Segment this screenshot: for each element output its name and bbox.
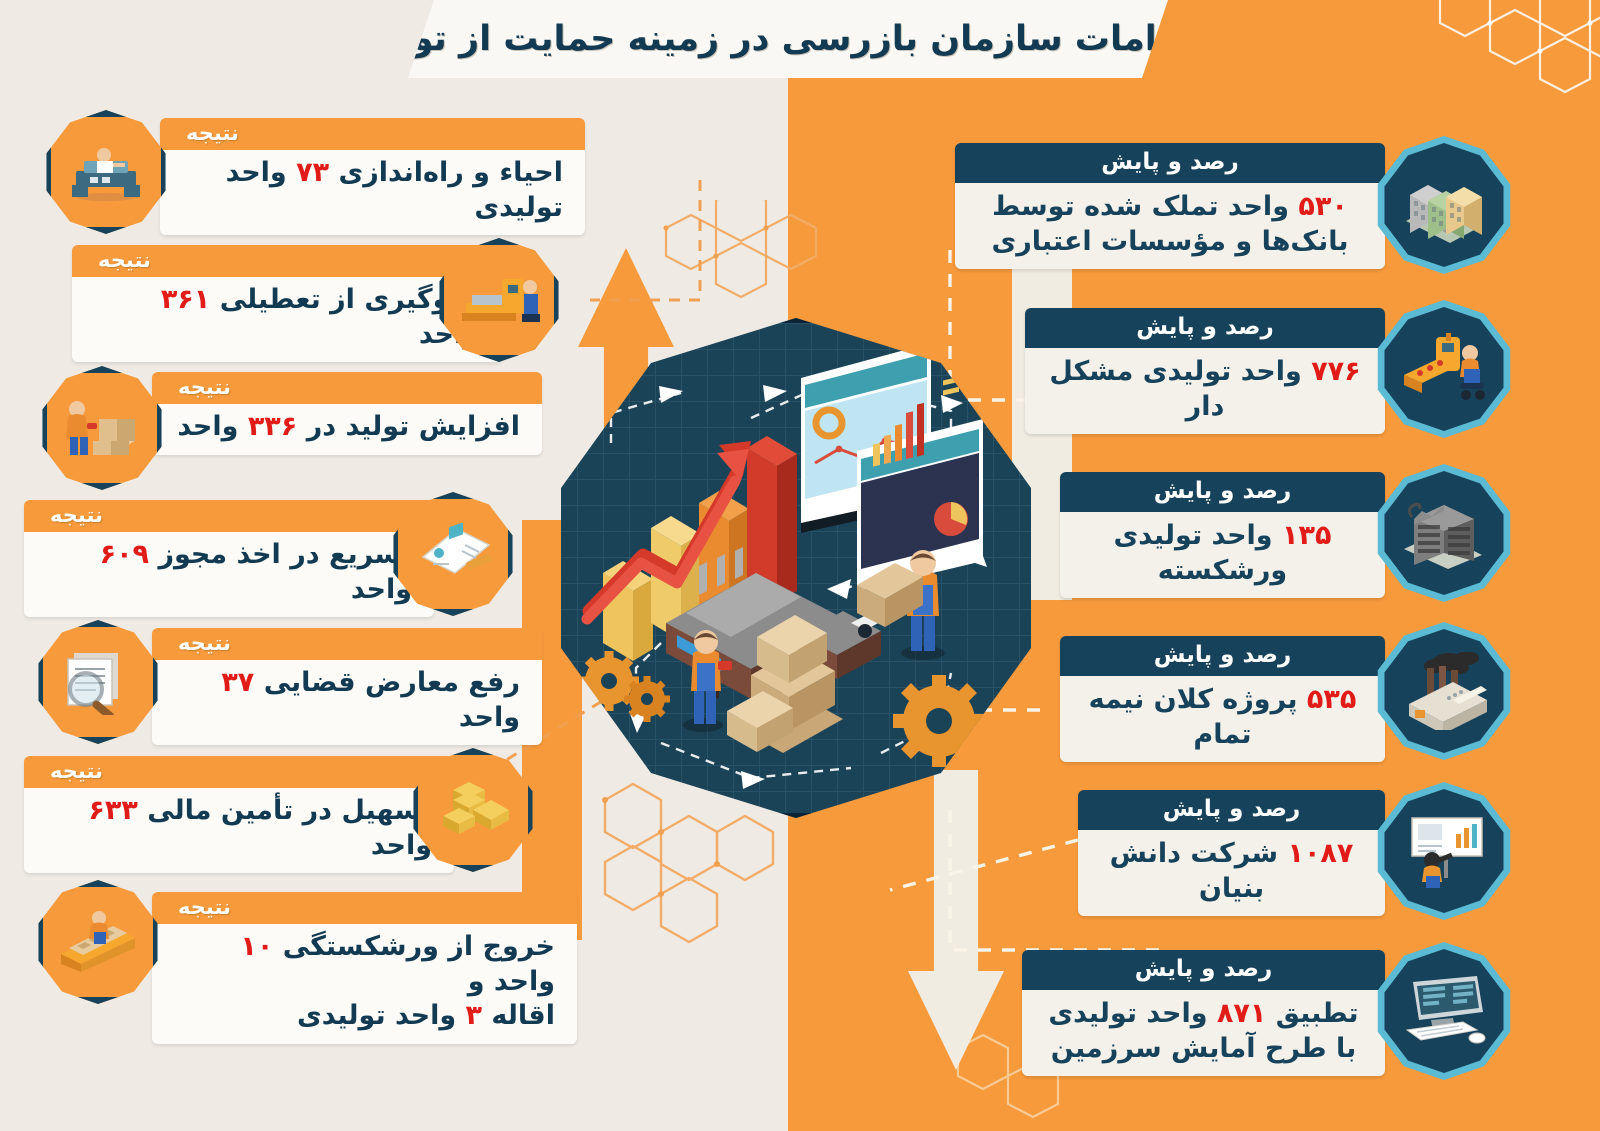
right-card-header: رصد و پایش: [1060, 636, 1385, 676]
left-card-3[interactable]: نتیجه افزایش تولید در ۳۳۶ واحد: [152, 372, 542, 455]
text-after: واحد تولیدی ورشکسته: [1114, 520, 1288, 586]
left-icon-badge-6: [411, 748, 535, 872]
left-card-header: نتیجه: [24, 500, 434, 532]
metric-number: ۶۳۳: [88, 795, 137, 826]
metric-number: ۱۰۸۷: [1287, 838, 1353, 869]
text-after: شرکت دانش بنیان: [1110, 838, 1278, 904]
left-icon-badge-4: [391, 492, 515, 616]
left-card-5[interactable]: نتیجه رفع معارض قضایی ۳۷ واحد: [152, 628, 542, 745]
metric-number: ۳۶۱: [161, 284, 210, 315]
text-before: خروج از ورشکستگی: [283, 931, 555, 962]
metric-number-2: ۳: [466, 1000, 482, 1031]
left-card-header: نتیجه: [152, 628, 542, 660]
gold-coins-icon: [433, 778, 513, 842]
smoking-factory-icon: [1397, 652, 1491, 730]
industrial-robot-operator-icon: [1398, 333, 1490, 405]
right-icon-badge-2: [1375, 300, 1513, 438]
right-card-body: تطبیق ۸۷۱ واحد تولیدی با طرح آمایش سرزمی…: [1022, 990, 1385, 1076]
right-card-header: رصد و پایش: [955, 143, 1385, 183]
text-before: احیاء و راه‌اندازی: [338, 157, 563, 188]
metric-number: ۸۷۱: [1217, 998, 1266, 1029]
left-card-body: خروج از ورشکستگی ۱۰ واحد و اقاله ۳ واحد …: [152, 924, 577, 1044]
metric-number: ۳۷: [221, 667, 254, 698]
right-card-2[interactable]: رصد و پایش ۷۷۶ واحد تولیدی مشکل دار: [1025, 308, 1385, 434]
text-before: تسریع در اخذ مجوز: [158, 539, 412, 570]
metric-number: ۷۳: [296, 157, 329, 188]
left-card-header: نتیجه: [152, 372, 542, 404]
left-card-body: تسهیل در تأمین مالی ۶۳۳ واحد: [24, 788, 454, 873]
page-title: اقدامات سازمان بازرسی در زمینه حمایت از …: [364, 19, 1212, 59]
right-card-1[interactable]: رصد و پایش ۵۳۰ واحد تملک شده توسط بانک‌ه…: [955, 143, 1385, 269]
right-card-6[interactable]: رصد و پایش تطبیق ۸۷۱ واحد تولیدی با طرح …: [1022, 950, 1385, 1076]
right-icon-badge-1: [1375, 136, 1513, 274]
left-icon-badge-3: [40, 366, 164, 490]
right-card-3[interactable]: رصد و پایش ۱۳۵ واحد تولیدی ورشکسته: [1060, 472, 1385, 598]
right-card-header: رصد و پایش: [1078, 790, 1385, 830]
left-icon-badge-2: [437, 238, 561, 362]
presentation-worker-icon: [1398, 812, 1490, 890]
cnc-machine-operator-icon: [456, 269, 542, 331]
right-card-header: رصد و پایش: [1022, 950, 1385, 990]
right-card-body: ۵۳۵ پروژه کلان نیمه تمام: [1060, 676, 1385, 762]
metric-number: ۷۷۶: [1311, 356, 1360, 387]
text-after: واحد: [177, 411, 238, 442]
right-icon-badge-4: [1375, 622, 1513, 760]
text-before: افزایش تولید در: [307, 411, 520, 442]
right-card-body: ۱۰۸۷ شرکت دانش بنیان: [1078, 830, 1385, 916]
left-card-body: احیاء و راه‌اندازی ۷۳ واحد تولیدی: [160, 150, 585, 235]
right-icon-badge-6: [1375, 942, 1513, 1080]
infographic-canvas: اقدامات سازمان بازرسی در زمینه حمایت از …: [0, 0, 1600, 1131]
conveyor-belt-worker-icon: [55, 910, 141, 974]
left-card-7[interactable]: نتیجه خروج از ورشکستگی ۱۰ واحد و اقاله ۳…: [152, 892, 577, 1044]
permit-document-pen-icon: [409, 523, 497, 585]
text-after-2: واحد تولیدی: [297, 1000, 456, 1031]
apartment-buildings-icon: [1398, 167, 1490, 243]
metric-number: ۳۳۶: [248, 411, 297, 442]
left-card-body: تسریع در اخذ مجوز ۶۰۹ واحد: [24, 532, 434, 617]
text-after: پروژه کلان نیمه تمام: [1089, 684, 1298, 750]
right-icon-badge-5: [1375, 782, 1513, 920]
right-card-5[interactable]: رصد و پایش ۱۰۸۷ شرکت دانش بنیان: [1078, 790, 1385, 916]
metric-number: ۱۰: [240, 931, 273, 962]
metric-number: ۶۰۹: [100, 539, 149, 570]
lathe-machine-icon: [64, 141, 148, 203]
right-card-body: ۱۳۵ واحد تولیدی ورشکسته: [1060, 512, 1385, 598]
document-magnifier-icon: [58, 649, 138, 715]
text-before: تسهیل در تأمین مالی: [147, 795, 432, 826]
page-title-banner: اقدامات سازمان بازرسی در زمینه حمایت از …: [408, 0, 1168, 78]
left-icon-badge-1: [44, 110, 168, 234]
worker-boxes-icon: [59, 395, 145, 461]
text-after: واحد تولیدی مشکل دار: [1049, 356, 1301, 422]
left-card-body: رفع معارض قضایی ۳۷ واحد: [152, 660, 542, 745]
desktop-monitor-icon: [1397, 974, 1491, 1048]
metric-number: ۱۳۵: [1282, 520, 1331, 551]
text-after: واحد تملک شده توسط بانک‌ها و مؤسسات اعتب…: [991, 191, 1348, 257]
metric-number: ۵۳۰: [1298, 191, 1347, 222]
left-card-header: نتیجه: [160, 118, 585, 150]
left-icon-badge-5: [36, 620, 160, 744]
left-card-header: نتیجه: [24, 756, 454, 788]
right-card-header: رصد و پایش: [1060, 472, 1385, 512]
right-icon-badge-3: [1375, 464, 1513, 602]
left-icon-badge-7: [36, 880, 160, 1004]
abandoned-building-icon: [1398, 497, 1490, 569]
text-before-2: اقاله: [491, 1000, 555, 1031]
left-card-6[interactable]: نتیجه تسهیل در تأمین مالی ۶۳۳ واحد: [24, 756, 454, 873]
right-card-body: ۵۳۰ واحد تملک شده توسط بانک‌ها و مؤسسات …: [955, 183, 1385, 269]
text-before: تطبیق: [1276, 998, 1359, 1029]
left-card-4[interactable]: نتیجه تسریع در اخذ مجوز ۶۰۹ واحد: [24, 500, 434, 617]
right-card-header: رصد و پایش: [1025, 308, 1385, 348]
left-card-1[interactable]: نتیجه احیاء و راه‌اندازی ۷۳ واحد تولیدی: [160, 118, 585, 235]
metric-number: ۵۳۵: [1307, 684, 1356, 715]
text-before: رفع معارض قضایی: [264, 667, 520, 698]
right-card-4[interactable]: رصد و پایش ۵۳۵ پروژه کلان نیمه تمام: [1060, 636, 1385, 762]
right-card-body: ۷۷۶ واحد تولیدی مشکل دار: [1025, 348, 1385, 434]
left-card-body: افزایش تولید در ۳۳۶ واحد: [152, 404, 542, 455]
left-card-header: نتیجه: [152, 892, 577, 924]
text-after: واحد و: [468, 966, 555, 997]
text-after: واحد: [459, 702, 520, 733]
